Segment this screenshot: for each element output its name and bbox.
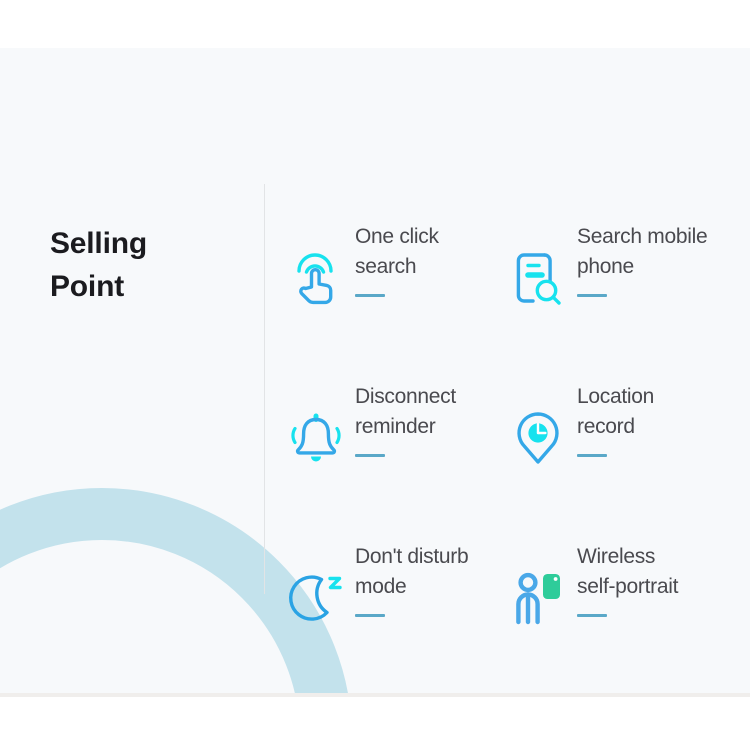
feature-underline: [355, 454, 385, 457]
one-click-search-icon: [285, 242, 347, 314]
feature-grid: One click search: [285, 220, 750, 693]
disconnect-reminder-icon: [285, 402, 347, 474]
feature-body: Location record: [577, 380, 654, 457]
vertical-divider: [264, 184, 265, 594]
dont-disturb-mode-icon: [285, 562, 347, 634]
feature-item-wireless-self-portrait[interactable]: Wireless self-portrait: [507, 540, 750, 693]
feature-underline: [577, 454, 607, 457]
feature-item-search-mobile-phone[interactable]: Search mobile phone: [507, 220, 750, 380]
feature-body: Disconnect reminder: [355, 380, 456, 457]
feature-label: Location record: [577, 382, 654, 442]
feature-body: Wireless self-portrait: [577, 540, 678, 617]
feature-underline: [355, 614, 385, 617]
feature-label: Wireless self-portrait: [577, 542, 678, 602]
feature-underline: [577, 614, 607, 617]
feature-body: Search mobile phone: [577, 220, 707, 297]
feature-label: Search mobile phone: [577, 222, 707, 282]
feature-body: Don't disturb mode: [355, 540, 468, 617]
page-title-line-1: Selling: [50, 223, 240, 266]
selling-point-infographic: Selling Point One clic: [0, 0, 750, 750]
feature-item-one-click-search[interactable]: One click search: [285, 220, 507, 380]
location-record-icon: [507, 402, 569, 474]
feature-underline: [577, 294, 607, 297]
wireless-self-portrait-icon: [507, 562, 569, 634]
feature-body: One click search: [355, 220, 439, 297]
panel-bottom-edge: [0, 693, 750, 697]
page-title-line-2: Point: [50, 266, 240, 309]
search-mobile-phone-icon: [507, 242, 569, 314]
content-panel: Selling Point One clic: [0, 48, 750, 693]
feature-item-dont-disturb-mode[interactable]: Don't disturb mode: [285, 540, 507, 693]
feature-item-disconnect-reminder[interactable]: Disconnect reminder: [285, 380, 507, 540]
feature-label: Disconnect reminder: [355, 382, 456, 442]
feature-underline: [355, 294, 385, 297]
feature-label: Don't disturb mode: [355, 542, 468, 602]
feature-item-location-record[interactable]: Location record: [507, 380, 750, 540]
feature-label: One click search: [355, 222, 439, 282]
page-title: Selling Point: [50, 223, 240, 308]
